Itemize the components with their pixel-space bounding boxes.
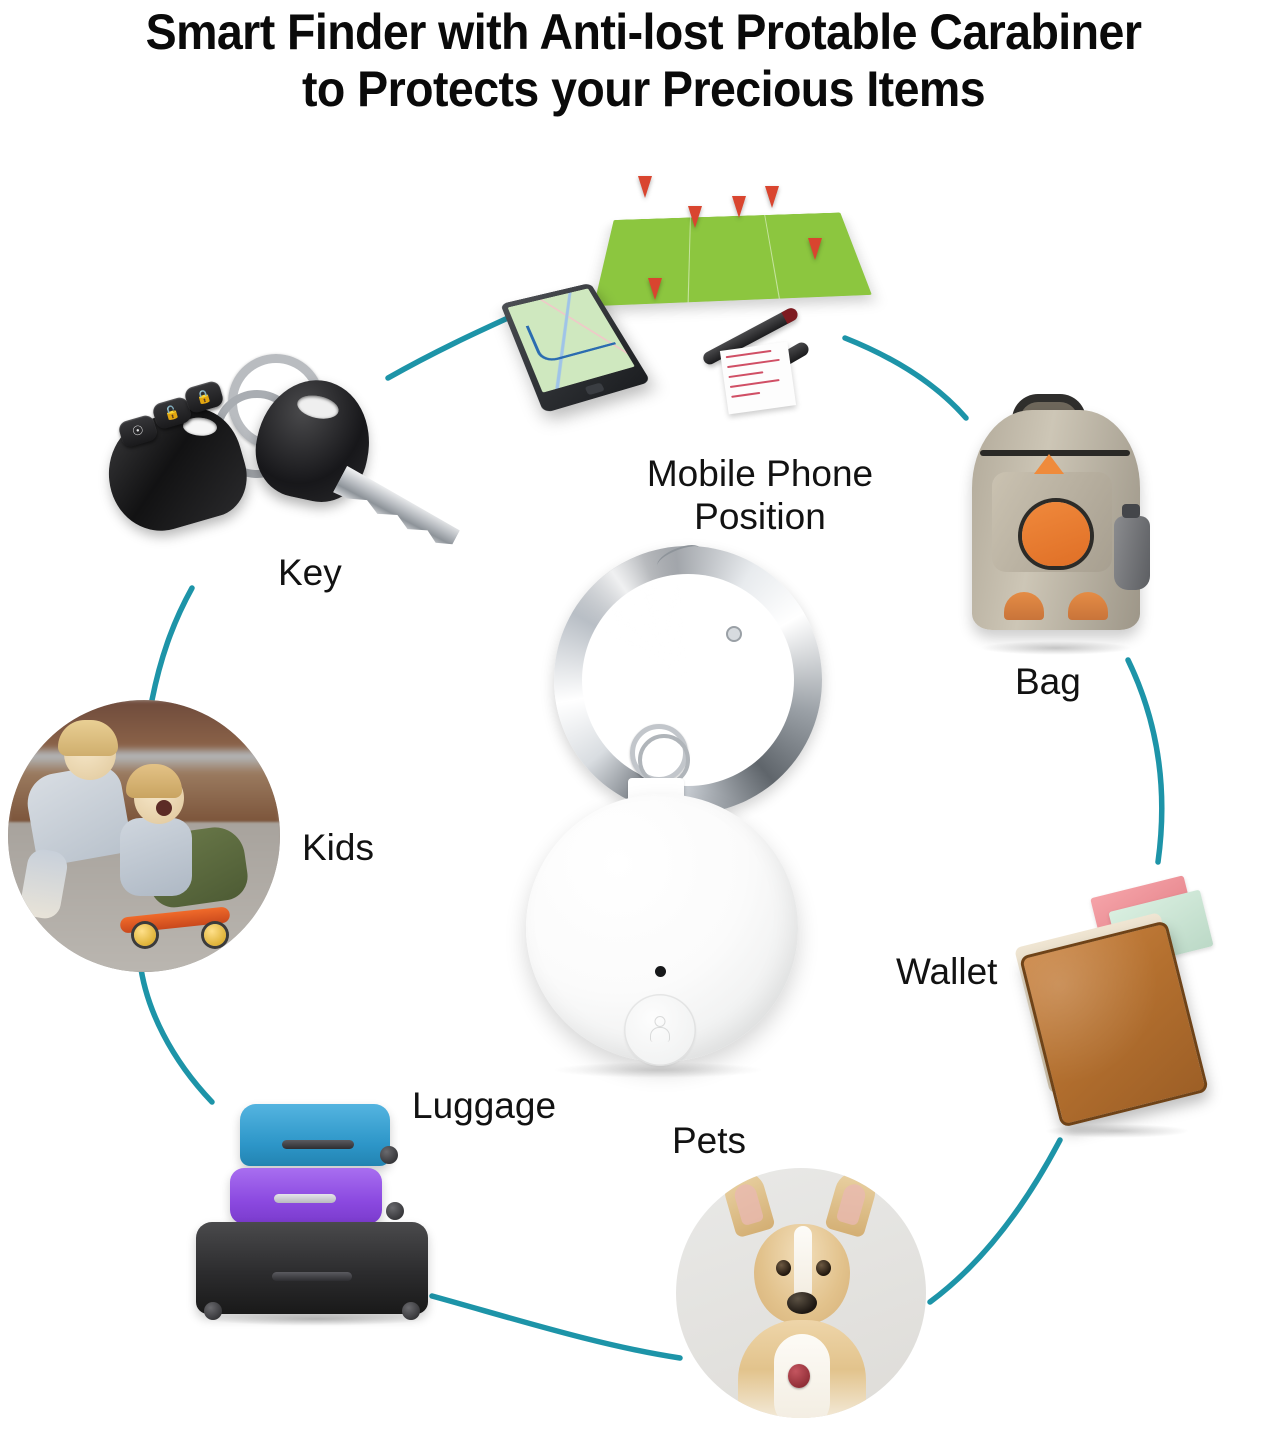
children-photo bbox=[8, 700, 280, 972]
route-line bbox=[526, 309, 616, 364]
suitcase-handle bbox=[274, 1194, 336, 1203]
node-kids bbox=[8, 700, 280, 972]
page-title: Smart Finder with Anti-lost Protable Car… bbox=[0, 4, 1287, 118]
suitcase-black-icon bbox=[196, 1222, 428, 1314]
backpack-front-pocket bbox=[992, 472, 1112, 572]
label-key: Key bbox=[278, 551, 342, 594]
node-luggage bbox=[180, 1098, 460, 1328]
label-mobile-phone-position: Mobile Phone Position bbox=[610, 452, 910, 538]
corgi-dog-photo bbox=[676, 1168, 926, 1418]
child-riding-mouth bbox=[156, 800, 172, 816]
label-kids: Kids bbox=[302, 826, 374, 869]
label-mobile-phone-position-line2: Position bbox=[694, 496, 826, 537]
label-mobile-phone-position-line1: Mobile Phone bbox=[647, 453, 873, 494]
node-key: ☉ 🔓 🔒 bbox=[108, 352, 468, 567]
backpack-bottom-pocket-right bbox=[1068, 592, 1108, 620]
map-pin-icon bbox=[765, 186, 779, 208]
luggage-shadow bbox=[206, 1312, 426, 1326]
arc-luggage-to-kids bbox=[140, 962, 212, 1102]
node-wallet bbox=[1022, 880, 1212, 1140]
phone-home-button-icon bbox=[585, 382, 605, 395]
key-blade-icon bbox=[333, 466, 462, 554]
suitcase-handle bbox=[282, 1140, 354, 1149]
map-pin-icon bbox=[732, 196, 746, 218]
map-pin-icon bbox=[688, 206, 702, 228]
bag-shadow bbox=[980, 641, 1132, 655]
arc-kids-to-key bbox=[152, 588, 192, 700]
map-pin-icon bbox=[648, 278, 662, 300]
carabiner-ring-icon bbox=[554, 546, 822, 814]
child-riding-body bbox=[120, 818, 192, 896]
suitcase-wheel bbox=[204, 1302, 222, 1320]
suitcase-purple-icon bbox=[230, 1168, 382, 1224]
arc-pets-to-luggage bbox=[432, 1296, 680, 1358]
node-mobile-phone-position bbox=[512, 190, 872, 425]
skateboard-wheel bbox=[134, 924, 156, 946]
corgi-eye-right bbox=[816, 1260, 831, 1276]
suitcase-blue-icon bbox=[240, 1104, 390, 1166]
label-bag: Bag bbox=[1015, 660, 1081, 703]
corgi-eye-left bbox=[776, 1260, 791, 1276]
corgi-collar-tag-icon bbox=[788, 1364, 810, 1388]
arc-wallet-to-pets bbox=[930, 1140, 1060, 1302]
key-head-hole bbox=[295, 392, 341, 422]
carabiner-pin-icon bbox=[726, 626, 742, 642]
arc-bag-to-wallet bbox=[1128, 660, 1162, 862]
fob-lock-button-icon: 🔒 bbox=[183, 380, 225, 415]
backpack-triangle-patch-icon bbox=[1034, 454, 1064, 474]
suitcase-wheel bbox=[380, 1146, 398, 1164]
smart-finder-tracker bbox=[518, 542, 808, 1072]
function-button[interactable] bbox=[624, 994, 696, 1066]
wallet-shadow bbox=[1044, 1124, 1190, 1138]
label-pets: Pets bbox=[672, 1119, 746, 1162]
suitcase-wheel bbox=[386, 1202, 404, 1220]
white-round-tracker bbox=[526, 794, 798, 1062]
suitcase-handle bbox=[272, 1272, 352, 1281]
title-line-1: Smart Finder with Anti-lost Protable Car… bbox=[45, 4, 1242, 61]
map-pin-icon bbox=[808, 238, 822, 260]
title-line-2: to Protects your Precious Items bbox=[45, 61, 1242, 118]
skateboard-wheel bbox=[204, 924, 226, 946]
node-pets bbox=[676, 1168, 926, 1418]
corgi-ear-left bbox=[720, 1168, 776, 1238]
world-map-icon bbox=[594, 213, 872, 307]
corgi-blaze bbox=[794, 1226, 812, 1300]
person-glyph-icon bbox=[650, 1016, 670, 1044]
handwritten-note-icon bbox=[720, 342, 796, 415]
node-bag bbox=[950, 388, 1174, 653]
product-infographic: Smart Finder with Anti-lost Protable Car… bbox=[0, 0, 1287, 1438]
label-luggage: Luggage bbox=[412, 1084, 556, 1127]
corgi-nose bbox=[787, 1292, 817, 1314]
backpack-orange-pocket bbox=[1022, 502, 1090, 566]
water-bottle-icon bbox=[1114, 516, 1150, 590]
corgi-ear-right bbox=[824, 1168, 880, 1238]
label-wallet: Wallet bbox=[896, 950, 997, 993]
backpack-bottom-pocket-left bbox=[1004, 592, 1044, 620]
microphone-dot bbox=[655, 966, 666, 977]
suitcase-wheel bbox=[402, 1302, 420, 1320]
map-pin-icon bbox=[638, 176, 652, 198]
